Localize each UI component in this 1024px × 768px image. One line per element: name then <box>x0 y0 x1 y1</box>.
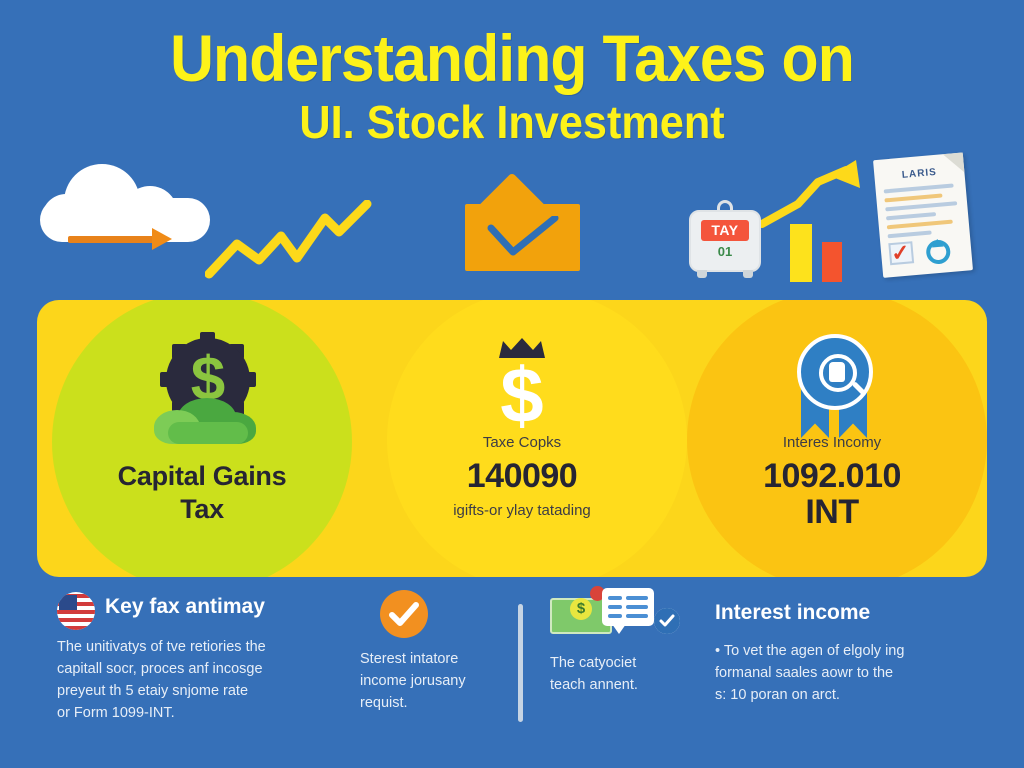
key-tax-line-4: or Form 1099-INT. <box>57 702 347 724</box>
key-tax-line-2: capitall socr, proces anf incosge <box>57 658 347 680</box>
key-tax-line-1: The unitivatys of tve retiories the <box>57 636 347 658</box>
taxe-copks-value: 140090 <box>367 456 677 496</box>
bottom-column-interest-income: Interest income • To vet the agen of elg… <box>715 590 965 706</box>
crown-dollar-icon: $ <box>479 338 565 440</box>
money-note-body: The catyociet teach annent. <box>550 646 715 696</box>
bottom-column-key-tax: Key fax antimay The unitivatys of tve re… <box>57 590 347 724</box>
decorative-icon-strip: TAY 01 LARIS ✓ <box>0 150 1024 290</box>
interest-income-line-2: formanal saales aowr to the <box>715 662 965 684</box>
panel-column-taxe-copks: $ Taxe Copks 140090 igifts-or ylay tatad… <box>367 300 677 577</box>
money-note-line-2: teach annent. <box>550 674 715 696</box>
envelope-check-icon <box>465 186 580 271</box>
check-note-body: Sterest intatore income jorusany requist… <box>360 648 510 714</box>
tax-sub-label: 01 <box>685 244 765 259</box>
orange-check-icon <box>380 590 428 638</box>
taxe-copks-sub: igifts-or ylay tatading <box>367 502 677 519</box>
us-flag-icon <box>57 592 95 630</box>
capital-gains-title-line2: Tax <box>37 493 367 526</box>
gear-dollar-money-icon: $ <box>152 338 262 446</box>
panel-column-capital-gains: $ Capital Gains Tax <box>37 300 367 577</box>
bottom-column-check-note: Sterest intatore income jorusany requist… <box>360 590 510 714</box>
document-header-label: LARIS <box>874 164 965 183</box>
title-line-2: UI. Stock Investment <box>31 94 994 150</box>
check-note-line-3: requist. <box>360 692 510 714</box>
trend-zigzag-icon <box>205 200 385 280</box>
bar-chart-icon <box>790 222 844 282</box>
key-tax-line-3: preyeut th 5 etaiy snjome rate <box>57 680 347 702</box>
money-note-line-1: The catyociet <box>550 652 715 674</box>
panel-column-interest-income: Interes Incomy 1092.010 INT <box>677 300 987 577</box>
title-line-1: Understanding Taxes on <box>41 22 983 94</box>
interest-income-heading: Interest income <box>715 590 965 626</box>
check-note-line-1: Sterest intatore <box>360 648 510 670</box>
interest-income-value2: INT <box>677 492 987 532</box>
bottom-column-money-note: $ The caty <box>550 590 715 696</box>
interest-income-line-1: • To vet the agen of elgoly ing <box>715 640 965 662</box>
taxe-copks-label: Taxe Copks <box>367 434 677 451</box>
tax-tag-label: TAY <box>701 220 749 241</box>
cloud-icon <box>40 160 220 250</box>
capital-gains-title-line1: Capital Gains <box>37 460 367 493</box>
tax-briefcase-icon: TAY 01 <box>685 198 765 280</box>
interest-income-body: • To vet the agen of elgoly ing formanal… <box>715 626 965 706</box>
check-note-line-2: income jorusany <box>360 670 510 692</box>
tax-document-icon: LARIS ✓ <box>865 145 986 284</box>
bottom-notes-section: Key fax antimay The unitivatys of tve re… <box>0 590 1024 768</box>
page-title: Understanding Taxes on UI. Stock Investm… <box>0 22 1024 150</box>
interest-income-label: Interes Incomy <box>677 434 987 451</box>
key-tax-body: The unitivatys of tve retiories the capi… <box>57 636 347 724</box>
interest-income-value: 1092.010 <box>677 456 987 496</box>
interest-income-line-3: s: 10 poran on arct. <box>715 684 965 706</box>
money-chat-icon: $ <box>550 590 715 646</box>
main-stats-panel: $ Capital Gains Tax $ Taxe <box>37 300 987 577</box>
vertical-divider <box>518 604 523 722</box>
badge-magnifier-icon <box>787 334 883 444</box>
key-tax-heading: Key fax antimay <box>105 594 265 620</box>
infographic-canvas: Understanding Taxes on UI. Stock Investm… <box>0 0 1024 768</box>
